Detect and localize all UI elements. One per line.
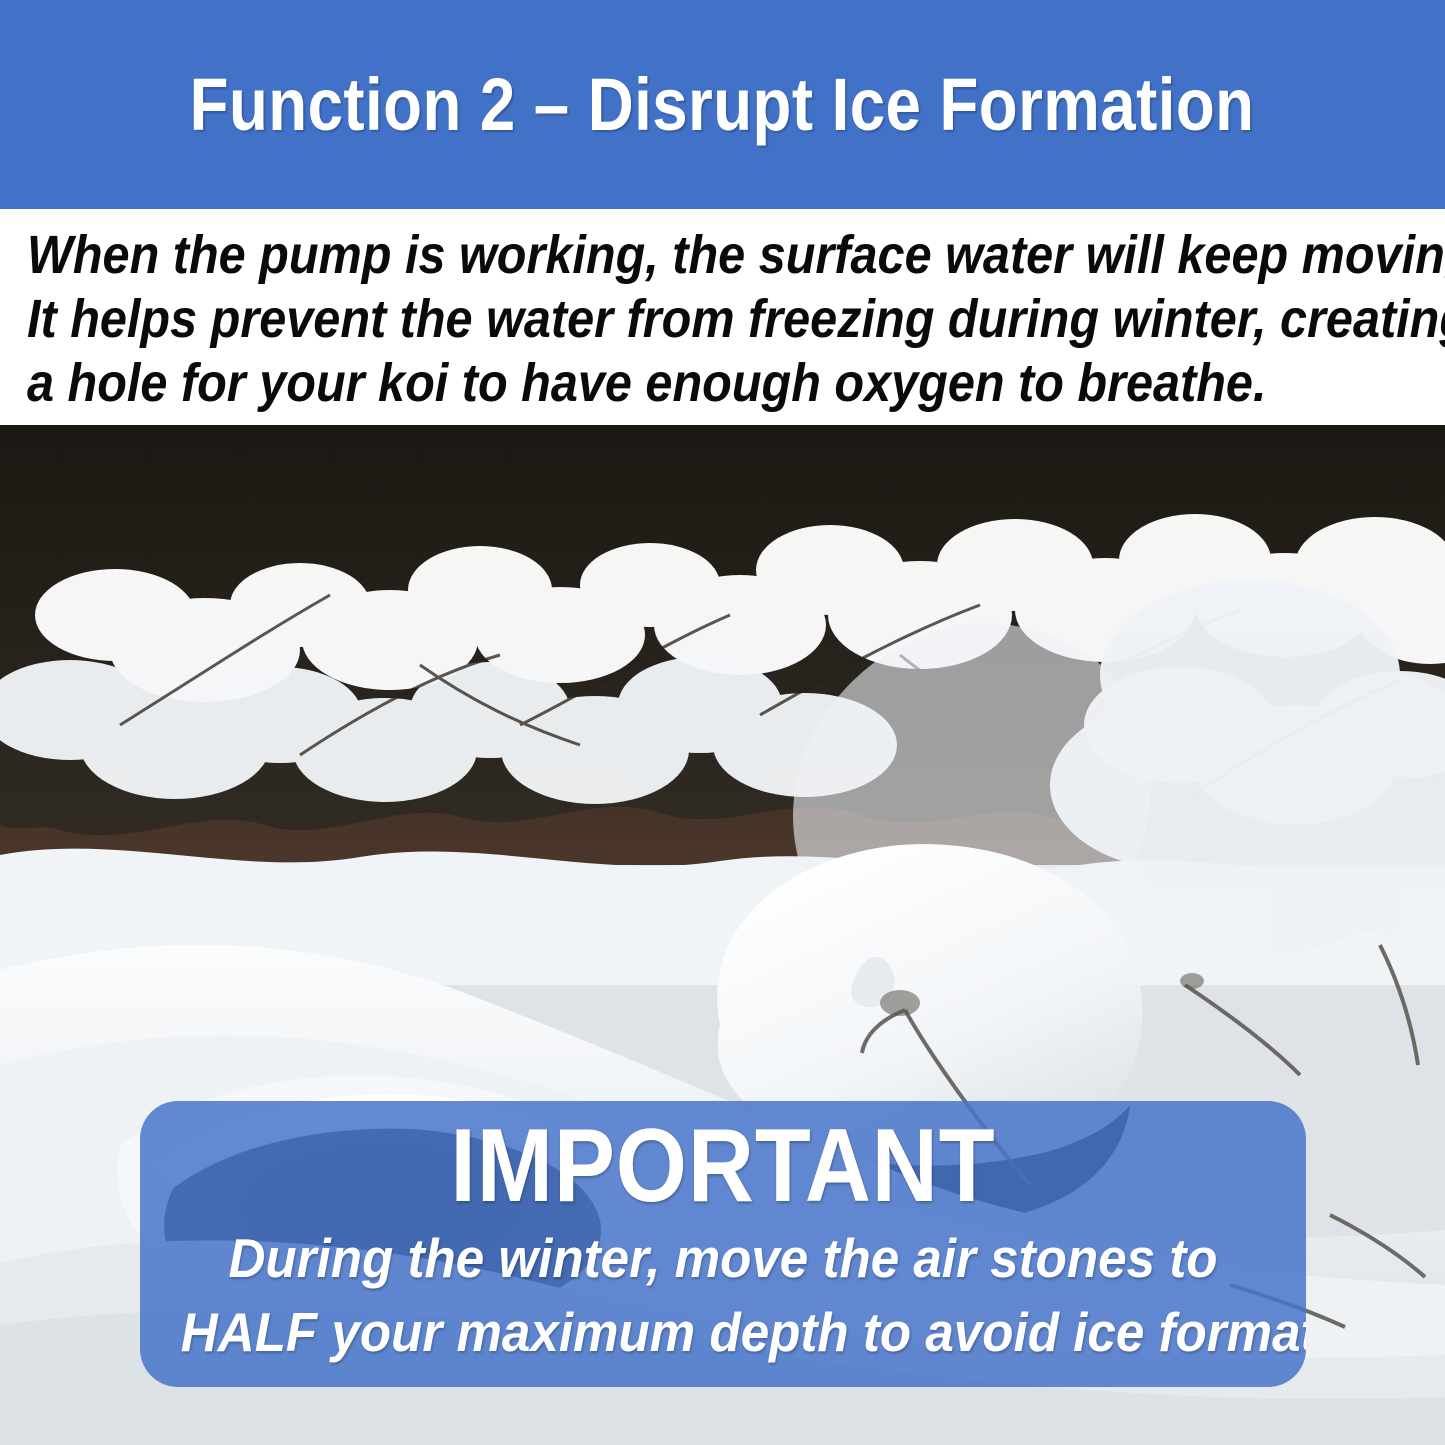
- intro-line-3: a hole for your koi to have enough oxyge…: [27, 351, 1282, 415]
- callout-line-1: During the winter, move the air stones t…: [181, 1221, 1265, 1295]
- intro-line-1: When the pump is working, the surface wa…: [27, 223, 1282, 287]
- intro-line-2: It helps prevent the water from freezing…: [27, 287, 1282, 351]
- header-band: Function 2 – Disrupt Ice Formation: [0, 0, 1445, 209]
- infographic-card: Function 2 – Disrupt Ice Formation When …: [0, 0, 1445, 1445]
- important-callout: IMPORTANT During the winter, move the ai…: [140, 1101, 1306, 1387]
- page-title: Function 2 – Disrupt Ice Formation: [190, 68, 1255, 142]
- callout-title: IMPORTANT: [210, 1111, 1236, 1221]
- intro-text-block: When the pump is working, the surface wa…: [0, 209, 1445, 425]
- callout-line-2: HALF your maximum depth to avoid ice for…: [181, 1295, 1265, 1369]
